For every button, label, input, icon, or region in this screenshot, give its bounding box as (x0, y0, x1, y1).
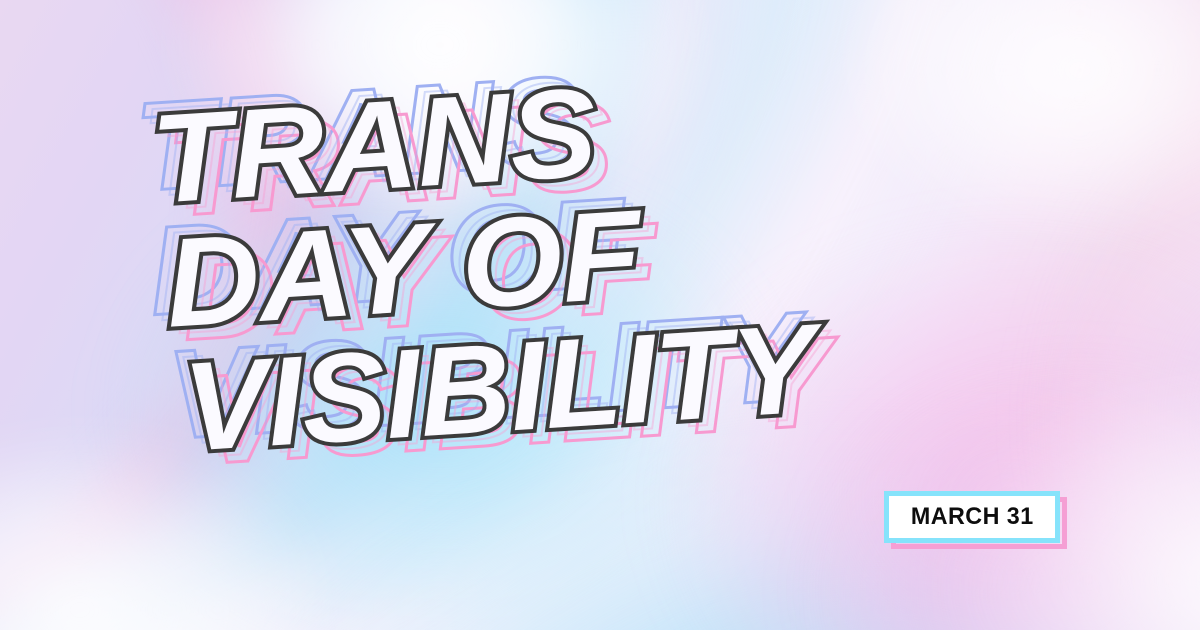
date-badge-label: MARCH 31 (911, 505, 1034, 529)
date-badge: MARCH 31 (884, 491, 1060, 543)
date-badge-box: MARCH 31 (884, 491, 1060, 543)
poster-canvas: TRANS TRANS TRANS TRANS TRANS TRANS DAY … (0, 0, 1200, 630)
